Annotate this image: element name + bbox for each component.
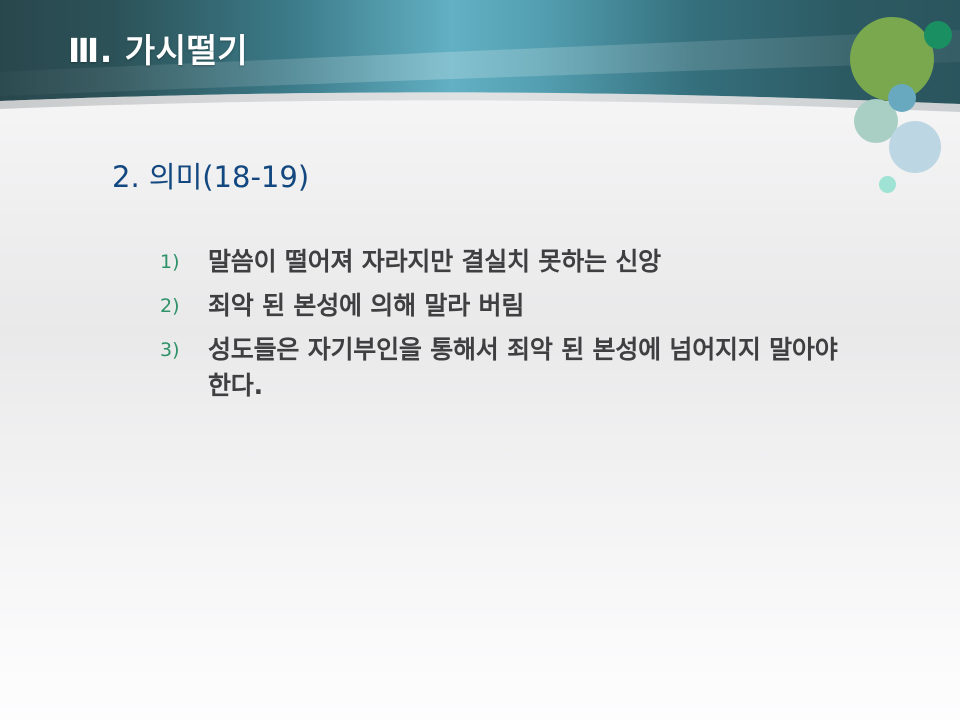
circle-green-small-icon [924,21,952,49]
circle-mint-dot-icon [879,176,896,193]
slide-header-band: Ⅲ. 가시떨기 [0,0,960,118]
list-item: 2) 죄악 된 본성에 의해 말라 버림 [160,288,860,324]
list-marker: 2) [160,288,208,324]
circle-light-blue-icon [889,121,941,173]
numbered-list: 1) 말씀이 떨어져 자라지만 결실치 못하는 신앙 2) 죄악 된 본성에 의… [160,244,860,412]
list-item-text: 성도들은 자기부인을 통해서 죄악 된 본성에 넘어지지 말아야 한다. [208,332,860,404]
list-item-text: 죄악 된 본성에 의해 말라 버림 [208,288,860,324]
presentation-slide: Ⅲ. 가시떨기 2. 의미(18-19) 1) 말씀이 떨어져 자라지만 결실치… [0,0,960,720]
list-item: 3) 성도들은 자기부인을 통해서 죄악 된 본성에 넘어지지 말아야 한다. [160,332,860,404]
section-heading: 2. 의미(18-19) [112,154,309,196]
list-item-text: 말씀이 떨어져 자라지만 결실치 못하는 신앙 [208,244,860,280]
list-marker: 3) [160,332,208,368]
circle-blue-dot-icon [888,84,916,112]
list-item: 1) 말씀이 떨어져 자라지만 결실치 못하는 신앙 [160,244,860,280]
slide-title: Ⅲ. 가시떨기 [68,24,248,72]
list-marker: 1) [160,244,208,280]
